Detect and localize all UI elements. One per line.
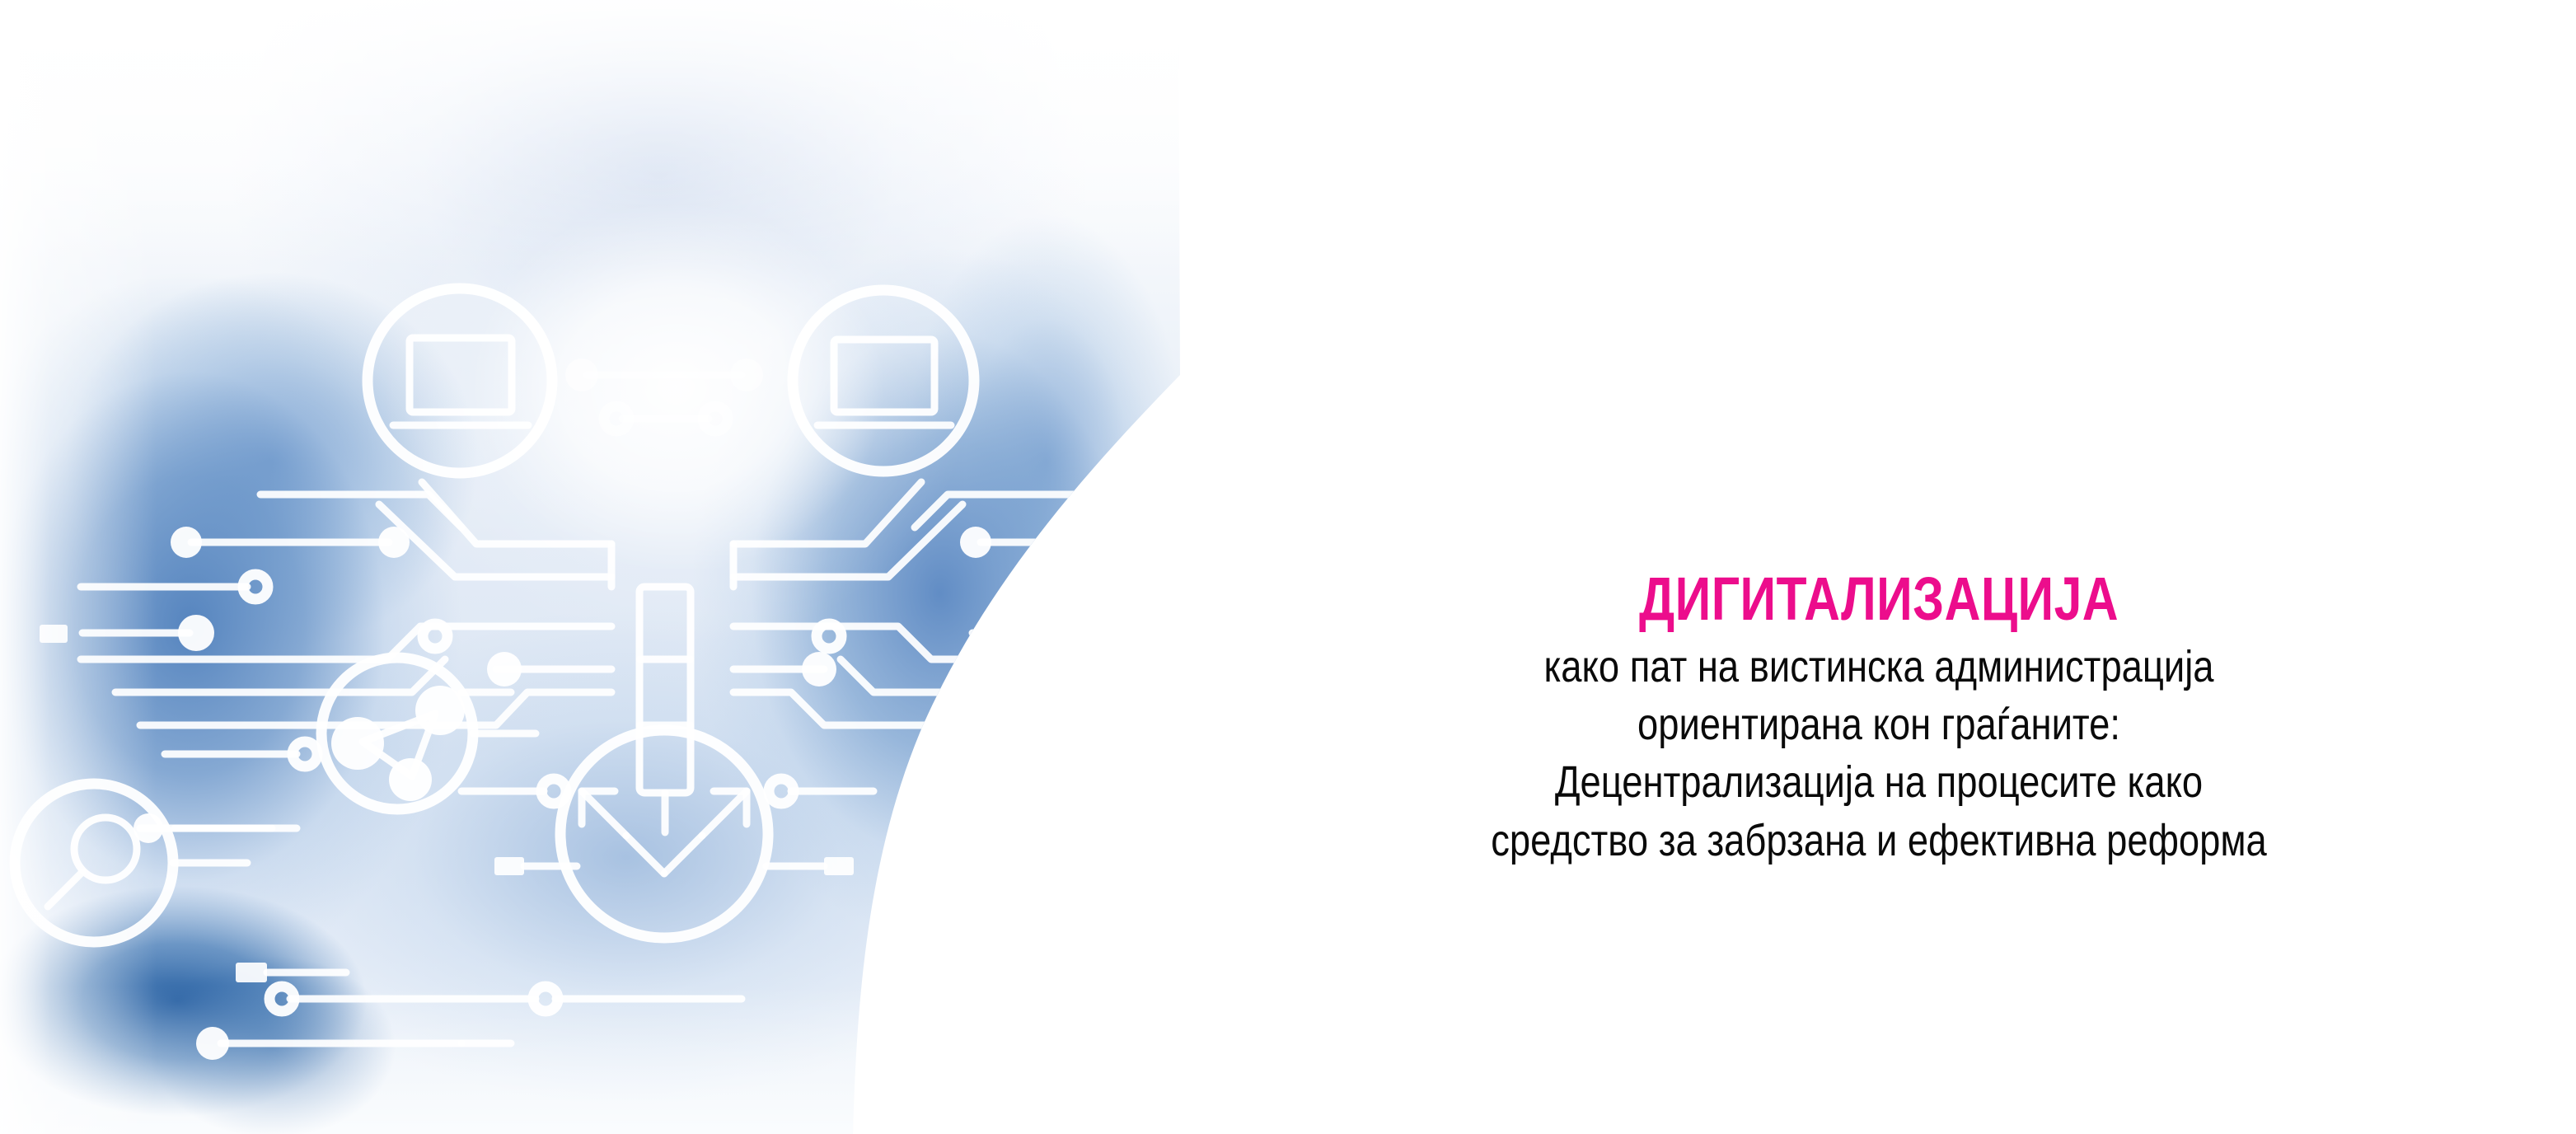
presentation-slide: .tr { fill:none; stroke:#ffffff; stroke-… [0,0,2576,1134]
slide-subtitle-line-2: ориентирана кон граѓаните: [1380,696,2377,753]
slide-subtitle-line-4: средство за забрзана и ефективна реформа [1380,812,2377,869]
slide-headline: ДИГИТАЛИЗАЦИЈА [1393,569,2366,630]
hero-image: .tr { fill:none; stroke:#ffffff; stroke-… [0,0,1220,1134]
slide-subtitle-line-1: како пат на вистинска администрација [1380,638,2377,696]
slide-text-block: ДИГИТАЛИЗАЦИЈА како пат на вистинска адм… [1286,569,2472,869]
slide-subtitle-line-3: Децентрализација на процесите како [1380,753,2377,811]
hands-photograph [0,0,1220,1134]
